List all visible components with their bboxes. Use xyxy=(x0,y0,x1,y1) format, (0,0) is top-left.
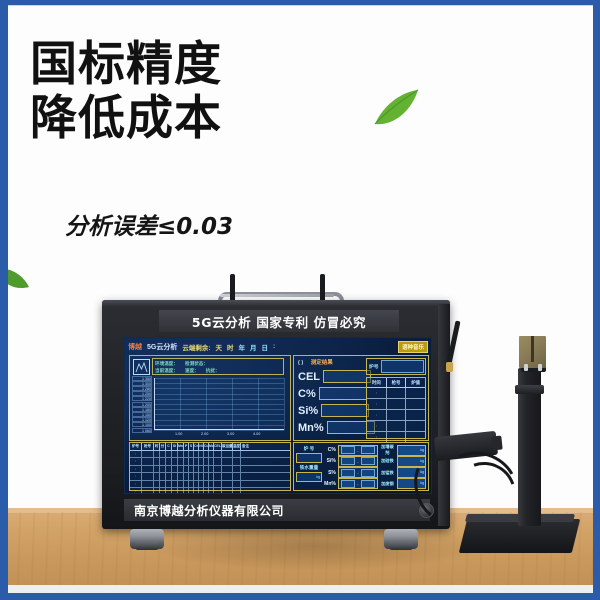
contact-pin-icon-right xyxy=(538,364,542,371)
status-info-box: 环境温度： 检测状态： 当前温度： 速度： 抗扰： xyxy=(152,358,284,375)
element-label: C% xyxy=(298,388,316,400)
element-value-box[interactable] xyxy=(321,404,369,417)
element-value-box[interactable] xyxy=(319,387,367,400)
recent-measurements-body: ::::: xyxy=(367,388,425,443)
furnace-number-input[interactable] xyxy=(381,360,424,373)
element-label: CEL xyxy=(298,371,320,383)
frame-left xyxy=(0,0,8,600)
alloy-additive-label: 加硅铁 xyxy=(380,458,395,464)
leaf-icon xyxy=(372,88,420,128)
recent-measurements-header-cell: 炉值 xyxy=(406,378,425,387)
table-cell: : xyxy=(130,466,142,472)
company-plate: 南京博越分析仪器有限公司 xyxy=(124,499,430,521)
plot-gridline-horizontal xyxy=(154,394,284,395)
table-cell xyxy=(214,473,222,479)
alloy-calc-row: Mn%-加废钢 xyxy=(324,479,426,489)
table-cell xyxy=(222,473,233,479)
alloy-calculation-panel: 炉 号 铁水重量 C%-加增碳剂Si%-加硅铁S%-加锰铁Mn%-加废钢 xyxy=(293,442,429,491)
alloy-additive-label: 加增碳剂 xyxy=(380,444,395,456)
date-day-label: 日 xyxy=(262,342,269,352)
table-cell: : xyxy=(130,488,142,494)
alloy-range-to[interactable] xyxy=(361,446,375,454)
result-bracket-left: ( xyxy=(298,360,300,366)
result-title: ( ) 测定结果 xyxy=(298,358,333,366)
sound-language-button[interactable]: 语种音乐 xyxy=(398,341,428,353)
table-row[interactable]: : xyxy=(367,410,425,421)
frame-right xyxy=(593,0,600,600)
table-cell xyxy=(387,410,407,420)
history-header-cell: 枪号 xyxy=(142,443,154,450)
cloud-unit-hour: 时 xyxy=(227,342,234,352)
element-readout-row: CEL xyxy=(298,370,371,383)
table-cell xyxy=(241,458,250,464)
plot-xtick-label: 1.00 xyxy=(175,432,182,436)
alloy-range-from[interactable] xyxy=(341,446,355,454)
alloy-range-from[interactable] xyxy=(341,469,355,477)
table-cell xyxy=(233,451,241,457)
alloy-range-to[interactable] xyxy=(361,469,375,477)
table-cell: : xyxy=(130,458,142,464)
alloy-element-label: Mn% xyxy=(324,481,336,487)
table-cell xyxy=(241,488,250,494)
recent-measurements-header-cell: 时间 xyxy=(367,378,387,387)
table-cell: : xyxy=(130,481,142,487)
measurement-result-panel: ( ) 测定结果 CELC%Si%Mn% 炉号 时间枪号炉值 ::::: xyxy=(293,355,429,441)
table-cell xyxy=(241,451,250,457)
marketing-banner-text: 5G云分析 国家专利 仿冒必究 xyxy=(192,312,366,331)
floor-strip xyxy=(8,585,593,593)
table-cell xyxy=(406,421,425,431)
alloy-element-label: S% xyxy=(324,470,336,476)
table-row[interactable]: : xyxy=(130,488,290,494)
plot-gridline-horizontal xyxy=(154,383,284,384)
table-cell xyxy=(233,488,241,494)
table-row[interactable]: : xyxy=(367,421,425,432)
plot-gridline-horizontal xyxy=(154,404,284,405)
table-cell xyxy=(241,481,250,487)
table-cell xyxy=(222,451,233,457)
table-cell: : xyxy=(130,473,142,479)
resist-label: 抗扰： xyxy=(206,367,220,374)
table-row[interactable]: : xyxy=(130,466,290,473)
table-cell xyxy=(406,388,425,398)
table-cell: : xyxy=(367,388,387,398)
time-colon: : xyxy=(273,343,275,350)
alloy-range-dash: - xyxy=(357,470,358,475)
element-label: Si% xyxy=(298,405,318,417)
table-cell: : xyxy=(367,421,387,431)
date-month-label: 月 xyxy=(250,342,257,352)
table-cell: : xyxy=(367,432,387,442)
table-cell xyxy=(222,466,233,472)
table-row[interactable]: : xyxy=(367,388,425,399)
cloud-remaining-label: 云端剩余: xyxy=(182,342,210,352)
table-cell xyxy=(241,473,250,479)
plot-ytick-label: 1 060 xyxy=(132,428,152,433)
cloud-unit-day: 天 xyxy=(216,342,223,352)
current-temp-label: 当前温度： xyxy=(155,367,178,374)
spectrometer-device: 5G云分析 国家专利 仿冒必究 博越 5G云分析 云端剩余: 天 时 年 月 日… xyxy=(102,292,450,532)
alloy-calc-row: Si%-加硅铁 xyxy=(324,456,426,466)
table-row[interactable]: : xyxy=(130,458,290,465)
speed-label: 速度： xyxy=(185,367,199,374)
brand-label-cn: 博越 xyxy=(128,342,142,352)
alloy-range-dash: - xyxy=(357,448,358,453)
plot-y-axis xyxy=(154,378,155,430)
page-subtitle: 分析误差≤0.03 xyxy=(65,207,233,241)
table-cell xyxy=(142,473,154,479)
alloy-range-to[interactable] xyxy=(361,457,375,465)
table-row[interactable]: : xyxy=(367,399,425,410)
screen-header: 博越 5G云分析 云端剩余: 天 时 年 月 日 : 语种音乐 xyxy=(128,340,428,353)
table-cell xyxy=(406,410,425,420)
table-cell xyxy=(387,421,407,431)
table-cell: : xyxy=(367,410,387,420)
table-cell: : xyxy=(367,399,387,409)
table-cell xyxy=(233,466,241,472)
page-title: 国标精度 降低成本 xyxy=(30,38,222,146)
sample-holder-slot xyxy=(531,336,534,362)
table-cell xyxy=(222,488,233,494)
frame-bottom xyxy=(0,593,600,600)
plot-xtick-label: 3.00 xyxy=(227,432,234,436)
table-row[interactable]: : xyxy=(130,451,290,458)
element-readout-row: C% xyxy=(298,387,367,400)
table-cell xyxy=(233,481,241,487)
frame-inner-line xyxy=(8,5,593,6)
brand-label-mode: 5G云分析 xyxy=(147,342,177,352)
alloy-range-from[interactable] xyxy=(341,480,355,488)
plot-gridline-horizontal xyxy=(154,414,284,415)
ambient-temp-label: 环境温度： xyxy=(155,360,178,367)
date-year-label: 年 xyxy=(239,342,246,352)
table-row[interactable]: : xyxy=(130,473,290,480)
history-table-body: :::::: xyxy=(130,451,290,494)
calc-furnace-label: 炉 号 xyxy=(296,445,322,452)
calc-water-input[interactable] xyxy=(296,472,322,482)
alloy-range-input[interactable]: - xyxy=(338,445,378,456)
table-cell xyxy=(222,481,233,487)
plot-gridline-horizontal xyxy=(154,425,284,426)
table-cell xyxy=(222,458,233,464)
furnace-number-label: 炉号 xyxy=(367,363,381,370)
status-info-row-2: 当前温度： 速度： 抗扰： xyxy=(155,367,281,374)
history-table-header: 炉号枪号时分CSiMnPSCrNiCuMoCEL碳当量温度备注 xyxy=(130,443,290,451)
table-row[interactable]: : xyxy=(130,481,290,488)
alloy-additive-label: 加废钢 xyxy=(380,481,395,487)
alloy-element-label: Si% xyxy=(324,458,336,464)
cooling-curve-plot: 1 3501 3001 2801 2501 2201 2001 1801 150… xyxy=(154,378,284,430)
alloy-range-to[interactable] xyxy=(361,480,375,488)
table-cell xyxy=(406,399,425,409)
cooling-curve-panel: 环境温度： 检测状态： 当前温度： 速度： 抗扰： 1 3501 3001 28… xyxy=(129,355,291,441)
table-cell xyxy=(233,458,241,464)
alloy-element-label: C% xyxy=(324,447,336,453)
alloy-range-input[interactable]: - xyxy=(338,467,378,478)
table-cell xyxy=(214,451,222,457)
calc-furnace-input[interactable] xyxy=(296,453,322,463)
recent-measurements-table: 时间枪号炉值 ::::: xyxy=(366,377,426,439)
table-cell xyxy=(387,388,407,398)
history-table[interactable]: 炉号枪号时分CSiMnPSCrNiCuMoCEL碳当量温度备注 :::::: xyxy=(129,442,291,491)
table-cell xyxy=(142,481,154,487)
plot-gridline-horizontal xyxy=(154,399,284,400)
element-readout-row: Mn% xyxy=(298,421,375,434)
detect-mode-label: 检测状态： xyxy=(185,360,208,367)
plot-gridline-horizontal xyxy=(154,388,284,389)
calc-water-label: 铁水重量 xyxy=(296,464,322,471)
device-foot-left xyxy=(130,529,164,549)
table-cell: : xyxy=(130,451,142,457)
furnace-number-box[interactable]: 炉号 xyxy=(366,358,426,375)
carry-handle-highlight xyxy=(220,294,334,297)
alloy-additive-label: 加锰铁 xyxy=(380,470,395,476)
table-cell xyxy=(214,481,222,487)
calc-left-column: 炉 号 铁水重量 xyxy=(296,445,322,483)
handheld-probe-tip xyxy=(491,436,502,451)
calc-row-list: C%-加增碳剂Si%-加硅铁S%-加锰铁Mn%-加废钢 xyxy=(324,445,426,490)
element-readout-row: Si% xyxy=(298,404,369,417)
history-header-cell: 备注 xyxy=(241,443,250,450)
history-header-cell: 炉号 xyxy=(130,443,142,450)
recent-measurements-header: 时间枪号炉值 xyxy=(367,378,425,388)
table-cell xyxy=(406,432,425,442)
result-bracket-right: ) xyxy=(301,360,303,366)
table-cell xyxy=(387,399,407,409)
plot-gridline-horizontal xyxy=(154,378,284,379)
spectrum-logo-icon xyxy=(133,359,150,375)
alloy-calc-row: S%-加锰铁 xyxy=(324,468,426,478)
table-cell xyxy=(387,432,407,442)
table-cell xyxy=(214,466,222,472)
alloy-range-from[interactable] xyxy=(341,457,355,465)
plot-gridline-horizontal xyxy=(154,409,284,410)
probe-stand-collar xyxy=(515,385,544,394)
element-value-box[interactable] xyxy=(323,370,371,383)
plot-x-axis xyxy=(154,429,284,430)
antenna-icon-left xyxy=(230,274,235,302)
result-title-text: 测定结果 xyxy=(311,360,333,366)
promo-image-root: 国标精度 降低成本 分析误差≤0.03 5G云分析 国家专利 仿冒必究 博越 5… xyxy=(0,0,600,600)
table-cell xyxy=(214,488,222,494)
plot-gridline-horizontal xyxy=(154,420,284,421)
table-cell xyxy=(214,458,222,464)
history-header-cell: 温度 xyxy=(233,443,241,450)
marketing-banner: 5G云分析 国家专利 仿冒必究 xyxy=(159,310,399,332)
alloy-range-input[interactable]: - xyxy=(338,456,378,467)
table-cell xyxy=(233,473,241,479)
company-name: 南京博越分析仪器有限公司 xyxy=(134,502,284,519)
alloy-range-dash: - xyxy=(357,481,358,486)
table-cell xyxy=(241,466,250,472)
device-foot-right xyxy=(384,529,418,549)
device-top-bevel xyxy=(102,300,450,307)
alloy-calc-row: C%-加增碳剂 xyxy=(324,445,426,455)
history-header-cell: CEL xyxy=(214,443,222,450)
alloy-range-dash: - xyxy=(357,459,358,464)
table-cell xyxy=(142,488,154,494)
plot-xtick-label: 2.00 xyxy=(201,432,208,436)
contact-pin-icon-left xyxy=(524,364,528,371)
recent-measurements-header-cell: 枪号 xyxy=(387,378,407,387)
plot-xtick-label: 4.00 xyxy=(253,432,260,436)
device-shadow xyxy=(150,530,480,570)
antenna-connector-icon xyxy=(446,362,453,372)
element-label: Mn% xyxy=(298,422,324,434)
lcd-screen[interactable]: 博越 5G云分析 云端剩余: 天 时 年 月 日 : 语种音乐 xyxy=(124,337,432,494)
alloy-range-input[interactable]: - xyxy=(338,478,378,489)
table-cell xyxy=(142,458,154,464)
table-cell xyxy=(142,466,154,472)
plot-gridline-vertical xyxy=(284,378,285,430)
plot-gridline-horizontal xyxy=(154,430,284,431)
antenna-icon-right xyxy=(320,274,325,302)
status-info-row-1: 环境温度： 检测状态： xyxy=(155,360,281,367)
alloy-additive-value[interactable] xyxy=(397,445,426,456)
history-header-cell: 碳当量 xyxy=(222,443,233,450)
table-cell xyxy=(142,451,154,457)
